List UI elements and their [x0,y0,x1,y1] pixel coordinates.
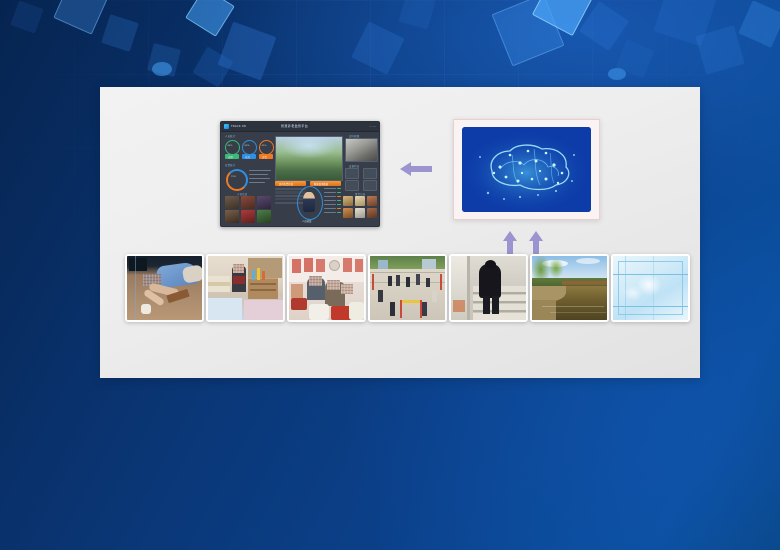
white-content-panel: TRACK ON 智慧养老监管平台 — — 人员统计 86% 在院 62% 在岗… [100,87,700,378]
person-thumbnail[interactable] [225,196,239,209]
arrow-up-2-icon [529,231,543,254]
gauge-ring-1 [225,140,240,155]
metric-row [337,188,341,189]
decor-dot [152,62,172,76]
gauge-label-1: 在院 [228,155,233,159]
metric-row [324,204,336,205]
metric-row [324,208,336,209]
person-thumbnail[interactable] [225,210,239,223]
photo-stairs-climbing [451,256,526,320]
metric-row [324,196,336,197]
dashboard-logo-label: TRACK ON [231,125,246,128]
event-thumbnail[interactable] [355,208,365,218]
scene-photo[interactable] [530,254,609,322]
privacy-mosaic [327,280,340,290]
orange-header-label: 实时告警信息 [279,182,293,186]
ai-brain-card[interactable] [453,119,600,220]
arrow-up-icons [500,229,550,255]
dashboard-title: 智慧养老监管平台 [281,124,308,128]
privacy-mosaic [309,276,322,286]
gauge-ring-2 [242,140,257,155]
slide-canvas: TRACK ON 智慧养老监管平台 — — 人员统计 86% 在院 62% 在岗… [0,0,780,550]
scene-photo[interactable] [611,254,690,322]
metric-row [337,200,341,201]
event-thumbnail[interactable] [367,208,377,218]
device-tile[interactable] [345,180,359,191]
donut-chart [226,169,248,191]
arrow-left [398,160,434,178]
event-thumbnail[interactable] [343,208,353,218]
device-tile[interactable] [363,180,377,191]
privacy-mosaic [233,264,244,273]
gauge-label-3: 告警 [262,155,267,159]
stat-row [249,178,270,179]
side-video-feed[interactable] [345,138,378,162]
person-thumbnail[interactable] [257,196,271,209]
scene-photo[interactable] [287,254,366,322]
gauge-value-3: 41% [262,145,267,147]
metric-row [337,212,341,213]
gauge-label-2: 在岗 [245,155,250,159]
privacy-mosaic [341,284,353,294]
orange-header-label: 健康监测数据 [314,182,328,186]
metric-row [337,204,341,205]
dashboard-titlebar: TRACK ON 智慧养老监管平台 — — [221,122,379,132]
arrow-up-1-icon [503,231,517,254]
photo-person-on-bed [208,256,283,320]
metric-row [337,192,341,193]
event-thumbnail[interactable] [367,196,377,206]
person-thumbnail[interactable] [257,210,271,223]
event-thumbnail[interactable] [343,196,353,206]
brain-svg [462,127,591,212]
dashboard-logo-icon [224,124,229,129]
photo-fallen-person [127,256,202,320]
health-metrics-list [324,188,341,218]
metric-row [324,192,336,193]
smart-elderly-care-dashboard[interactable]: TRACK ON 智慧养老监管平台 — — 人员统计 86% 在院 62% 在岗… [220,121,380,227]
arrow-left-icon [398,160,434,178]
metric-row [324,200,336,201]
stat-row [249,174,268,175]
device-tile[interactable] [345,168,359,179]
device-tile[interactable] [363,168,377,179]
digital-neural-brain-image [462,127,591,212]
metric-row [324,212,336,213]
photo-activity-room [289,256,364,320]
metric-row [324,188,336,189]
scene-photo[interactable] [449,254,528,322]
photo-courtyard-crowd [370,256,445,320]
donut-value: 75% [231,176,236,178]
photo-park-lake [532,256,607,320]
gauge-ring-3 [259,140,274,155]
gauge-value-2: 62% [245,145,250,147]
main-video-feed[interactable] [275,136,343,181]
photo-blue-abstract [613,256,688,320]
section-underline [225,138,269,139]
decor-dot [608,68,626,80]
gauge-value-1: 86% [228,145,233,147]
scene-photo[interactable] [206,254,285,322]
metric-row [337,196,341,197]
person-thumbnail[interactable] [241,210,255,223]
event-thumbnail[interactable] [355,196,365,206]
scene-photo[interactable] [368,254,447,322]
scene-photo-strip [125,254,685,318]
metric-row [337,208,341,209]
person-thumbnail[interactable] [241,196,255,209]
dashboard-clock: — — [369,125,376,128]
stat-row [249,170,271,171]
arrow-up-group [500,229,550,255]
section-underline [225,167,269,168]
person-caption: 人员档案 [302,219,312,223]
scene-photo[interactable] [125,254,204,322]
stat-row [249,182,265,183]
person-avatar [303,192,315,212]
